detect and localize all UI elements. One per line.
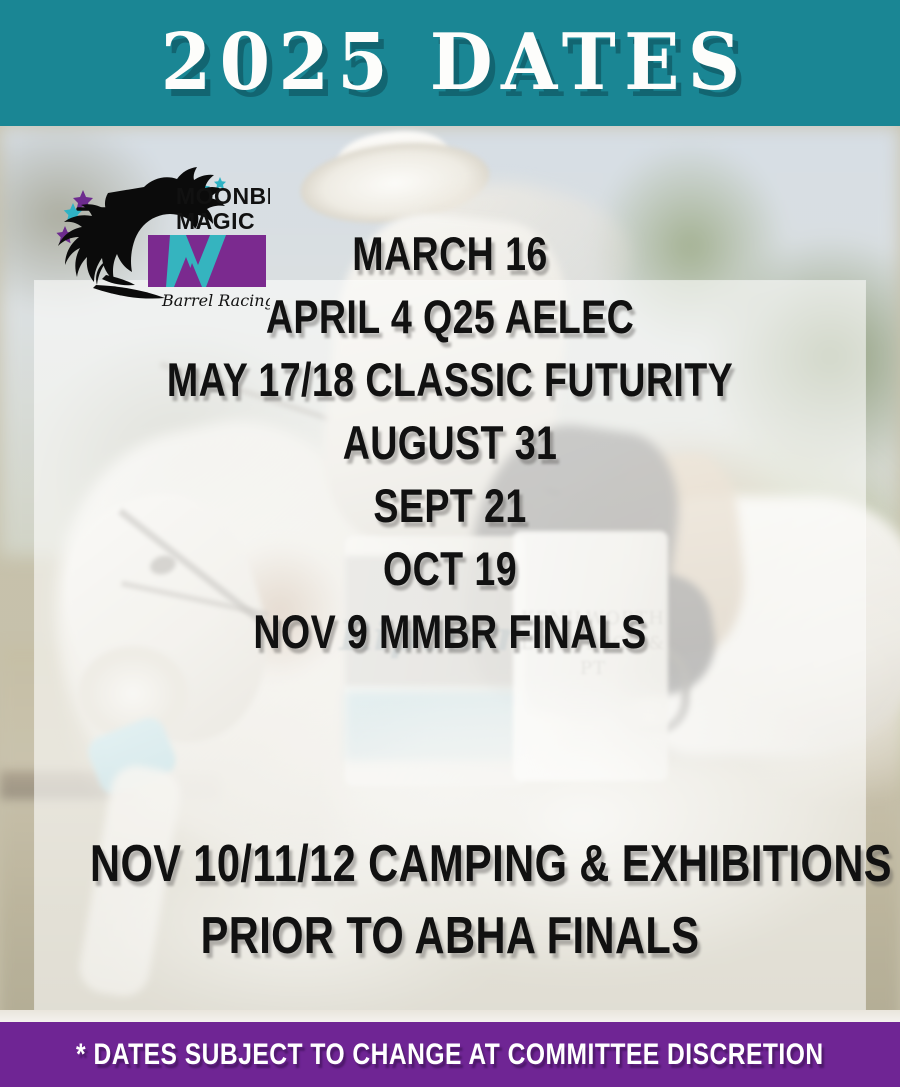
footer-divider bbox=[0, 1010, 900, 1022]
date-line: APRIL 4 Q25 AELEC bbox=[90, 285, 810, 348]
date-line: SEPT 21 bbox=[90, 474, 810, 537]
date-list: MARCH 16 APRIL 4 Q25 AELEC MAY 17/18 CLA… bbox=[0, 222, 900, 663]
footer-banner: * DATES SUBJECT TO CHANGE AT COMMITTEE D… bbox=[0, 1022, 900, 1087]
date-line: NOV 10/11/12 CAMPING & EXHIBITIONS bbox=[90, 828, 810, 900]
page-title: 2025 DATES bbox=[151, 24, 748, 102]
footer-disclaimer: * DATES SUBJECT TO CHANGE AT COMMITTEE D… bbox=[76, 1038, 824, 1072]
date-line: AUGUST 31 bbox=[90, 411, 810, 474]
date-line: OCT 19 bbox=[90, 537, 810, 600]
date-line: PRIOR TO ABHA FINALS bbox=[90, 900, 810, 972]
date-line: MAY 17/18 CLASSIC FUTURITY bbox=[90, 348, 810, 411]
date-line: NOV 9 MMBR FINALS bbox=[90, 600, 810, 663]
logo-text-moonbi: MOONBI bbox=[176, 183, 270, 209]
date-line: MARCH 16 bbox=[90, 222, 810, 285]
poster-root: 2025 DATES bbox=[0, 0, 900, 1087]
header-banner: 2025 DATES bbox=[0, 0, 900, 126]
date-list-secondary: NOV 10/11/12 CAMPING & EXHIBITIONS PRIOR… bbox=[0, 828, 900, 972]
